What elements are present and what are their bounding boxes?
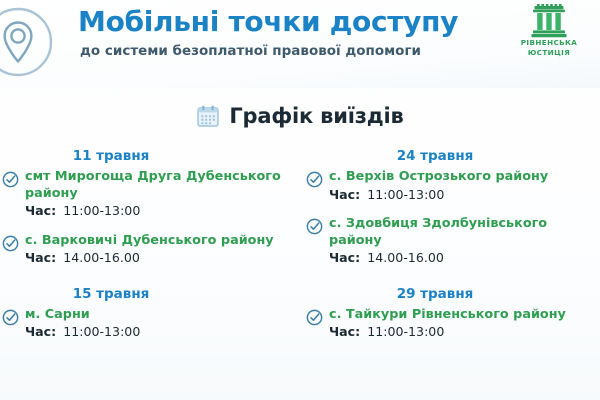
time-label: Час: [329, 250, 360, 265]
map-pin-circle-icon [0, 6, 54, 78]
time-label: Час: [25, 250, 56, 265]
check-circle-icon [2, 309, 19, 326]
entry-text: м. Сарни Час: 11:00-13:00 [25, 307, 290, 341]
list-item: м. Сарни Час: 11:00-13:00 [2, 307, 290, 341]
right-column: 24 травня с. Верхів Острозького району Ч… [298, 148, 600, 354]
brand-logo: РІВНЕНСЬКА ЮСТИЦІЯ [510, 4, 588, 57]
list-item: с. Тайкури Рівненського району Час: 11:0… [306, 307, 594, 341]
schedule-title: Графік виїздів [229, 104, 403, 128]
page-subtitle: до системи безоплатної правової допомоги [80, 43, 508, 61]
poster-root: Мобільні точки доступу до системи безопл… [0, 0, 600, 400]
entry-text: смт Мирогоща Друга Дубенського району Ча… [25, 169, 290, 219]
time-row: Час: 14.00-16.00 [25, 250, 290, 267]
brand-line-2: ЮСТИЦІЯ [510, 48, 588, 58]
time-value: 11:00-13:00 [367, 187, 444, 202]
time-row: Час: 11:00-13:00 [329, 187, 594, 204]
place-name: с. Верхів Острозького району [329, 169, 594, 185]
list-item: с. Верхів Острозького району Час: 11:00-… [306, 169, 594, 203]
time-label: Час: [25, 324, 56, 339]
calendar-icon [196, 104, 220, 128]
time-row: Час: 11:00-13:00 [25, 324, 290, 341]
list-item: с. Здовбиця Здолбунівського району Час: … [306, 216, 594, 266]
check-circle-icon [306, 309, 323, 326]
check-circle-icon [2, 235, 19, 252]
time-value: 14.00-16.00 [63, 250, 140, 265]
check-circle-icon [2, 171, 19, 188]
entry-text: с. Здовбиця Здолбунівського району Час: … [329, 216, 594, 266]
time-value: 11:00-13:00 [367, 324, 444, 339]
list-item: с. Варковичі Дубенського району Час: 14.… [2, 233, 290, 267]
schedule-columns: 11 травня смт Мирогоща Друга Дубенського… [0, 148, 600, 354]
list-item: смт Мирогоща Друга Дубенського району Ча… [2, 169, 290, 219]
date-label: 15 травня [2, 286, 290, 302]
entry-text: с. Тайкури Рівненського району Час: 11:0… [329, 307, 594, 341]
place-name: с. Тайкури Рівненського району [329, 307, 594, 323]
time-label: Час: [329, 187, 360, 202]
date-label: 11 травня [2, 148, 290, 164]
time-row: Час: 11:00-13:00 [25, 203, 290, 220]
place-name: с. Варковичі Дубенського району [25, 233, 290, 249]
place-name: с. Здовбиця Здолбунівського району [329, 216, 594, 249]
header-titles: Мобільні точки доступу до системи безопл… [78, 4, 508, 61]
time-value: 14.00-16.00 [367, 250, 444, 265]
time-label: Час: [25, 203, 56, 218]
left-column: 11 травня смт Мирогоща Друга Дубенського… [0, 148, 298, 354]
place-name: м. Сарни [25, 307, 290, 323]
place-name: смт Мирогоща Друга Дубенського району [25, 169, 290, 202]
check-circle-icon [306, 171, 323, 188]
page-title: Мобільні точки доступу [78, 4, 508, 39]
justice-columns-icon [530, 4, 568, 38]
date-label: 24 травня [306, 148, 594, 164]
entry-text: с. Верхів Острозького району Час: 11:00-… [329, 169, 594, 203]
time-value: 11:00-13:00 [63, 203, 140, 218]
header-banner: Мобільні точки доступу до системи безопл… [0, 0, 600, 88]
time-value: 11:00-13:00 [63, 324, 140, 339]
time-label: Час: [329, 324, 360, 339]
brand-line-1: РІВНЕНСЬКА [510, 38, 588, 48]
entry-text: с. Варковичі Дубенського району Час: 14.… [25, 233, 290, 267]
time-row: Час: 11:00-13:00 [329, 324, 594, 341]
date-label: 29 травня [306, 286, 594, 302]
time-row: Час: 14.00-16.00 [329, 250, 594, 267]
schedule-heading: Графік виїздів [0, 104, 600, 128]
check-circle-icon [306, 218, 323, 235]
